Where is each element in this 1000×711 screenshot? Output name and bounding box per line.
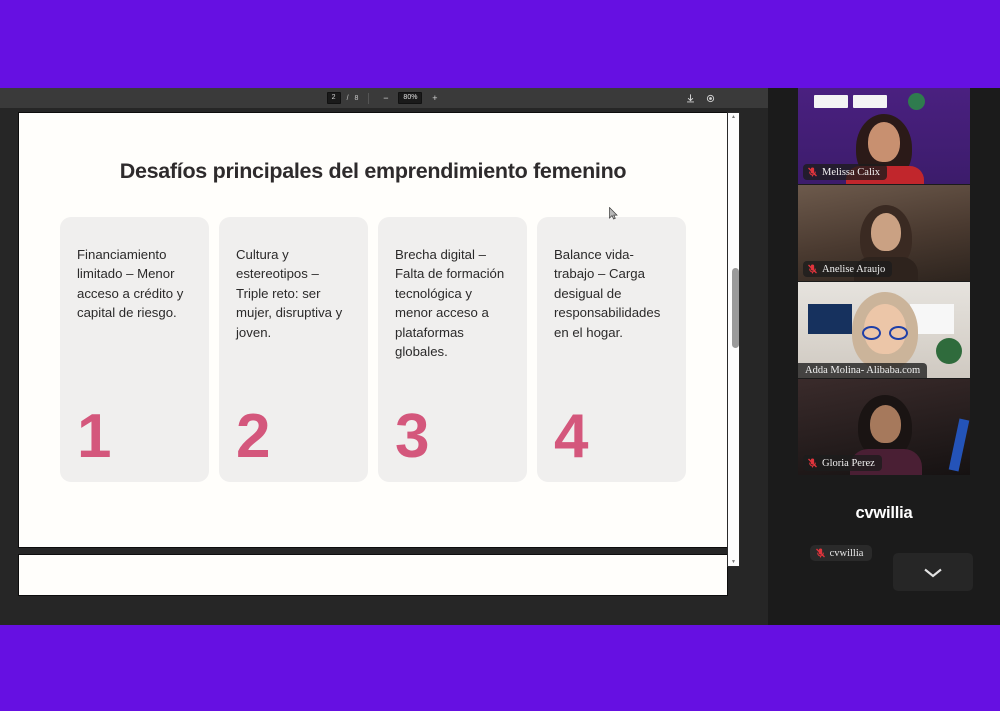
zoom-out-button[interactable]: − xyxy=(379,92,392,105)
self-view-name: cvwillia xyxy=(830,548,864,559)
challenge-card-number: 1 xyxy=(77,402,194,482)
self-view-section: cvwillia cvwillia xyxy=(768,476,1000,625)
participant-name: Melissa Calix xyxy=(822,167,880,178)
mic-muted-icon xyxy=(807,457,818,469)
challenge-card-number: 4 xyxy=(554,402,671,482)
scroll-up-arrow[interactable]: ▲ xyxy=(731,115,736,119)
participant-video-rail: Melissa Calix Anelise Araujo xyxy=(768,88,1000,625)
participant-name-chip: Anelise Araujo xyxy=(803,261,892,277)
chevron-down-icon xyxy=(922,566,944,579)
print-icon[interactable] xyxy=(705,93,716,104)
mic-muted-icon xyxy=(807,166,818,178)
challenge-card-number: 2 xyxy=(236,402,353,482)
zoom-level-input[interactable]: 80% xyxy=(398,92,422,104)
challenge-card-text: Balance vida-trabajo – Carga desigual de… xyxy=(554,245,671,342)
self-view-name-chip: cvwillia xyxy=(810,545,873,561)
shared-screen-pdf-viewer: 2 / 8 − 80% + xyxy=(0,88,768,625)
challenge-card: Balance vida-trabajo – Carga desigual de… xyxy=(537,217,686,482)
scroll-down-arrow[interactable]: ▼ xyxy=(731,560,736,564)
download-icon[interactable] xyxy=(685,93,696,104)
participant-name-chip: Gloria Perez xyxy=(803,455,882,471)
pdf-page-current: Desafíos principales del emprendimiento … xyxy=(18,112,728,548)
challenge-card: Cultura y estereotipos – Triple reto: se… xyxy=(219,217,368,482)
participant-tile[interactable]: Gloria Perez xyxy=(798,379,970,475)
participant-tile[interactable]: Melissa Calix xyxy=(798,88,970,184)
screen-stage: 2 / 8 − 80% + xyxy=(0,0,1000,711)
expand-collapse-button[interactable] xyxy=(893,553,973,591)
page-number-input[interactable]: 2 xyxy=(327,92,341,104)
participant-name: Gloria Perez xyxy=(822,458,875,469)
challenge-card: Financiamiento limitado – Menor acceso a… xyxy=(60,217,209,482)
participant-name-chip: Melissa Calix xyxy=(803,164,887,180)
participant-name: Adda Molina- Alibaba.com xyxy=(805,365,920,376)
zoom-in-button[interactable]: + xyxy=(428,92,441,105)
pdf-scrollbar-thumb[interactable] xyxy=(732,268,739,348)
sponsor-logos xyxy=(814,93,925,110)
slide-cards-row: Financiamiento limitado – Menor acceso a… xyxy=(49,217,697,482)
pdf-page-next xyxy=(18,554,728,596)
challenge-card-text: Brecha digital – Falta de formación tecn… xyxy=(395,245,512,361)
mic-muted-icon xyxy=(807,263,818,275)
challenge-card-text: Cultura y estereotipos – Triple reto: se… xyxy=(236,245,353,342)
slide-title: Desafíos principales del emprendimiento … xyxy=(49,159,697,184)
participant-tile[interactable]: Anelise Araujo xyxy=(798,185,970,281)
self-view-display-name: cvwillia xyxy=(855,504,912,523)
challenge-card-number: 3 xyxy=(395,402,512,482)
meeting-window: 2 / 8 − 80% + xyxy=(0,88,1000,625)
toolbar-divider xyxy=(368,93,369,104)
total-pages-label: 8 xyxy=(355,95,359,102)
pdf-toolbar: 2 / 8 − 80% + xyxy=(0,88,768,108)
participant-name: Anelise Araujo xyxy=(822,264,885,275)
challenge-card-text: Financiamiento limitado – Menor acceso a… xyxy=(77,245,194,323)
participant-name-chip: Adda Molina- Alibaba.com xyxy=(798,363,927,378)
page-separator: / xyxy=(347,95,349,102)
participant-tile-active-speaker[interactable]: Adda Molina- Alibaba.com xyxy=(798,282,970,378)
pdf-scroll-area[interactable]: Desafíos principales del emprendimiento … xyxy=(0,108,768,625)
challenge-card: Brecha digital – Falta de formación tecn… xyxy=(378,217,527,482)
mic-muted-icon xyxy=(815,547,826,559)
